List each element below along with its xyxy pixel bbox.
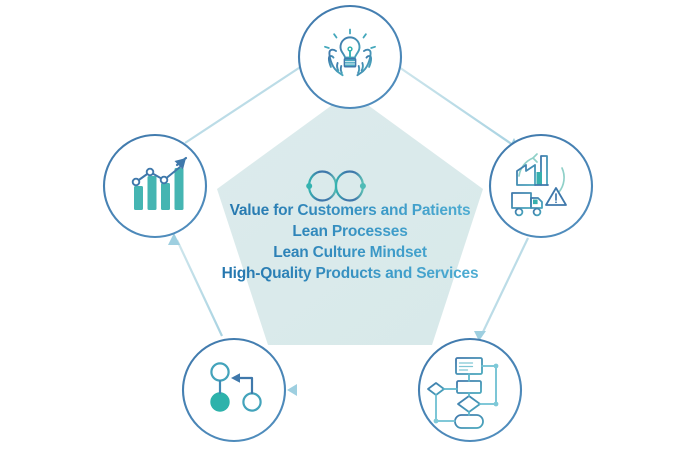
node-performance-growth[interactable] (104, 135, 206, 237)
node-innovation[interactable] (299, 6, 401, 108)
node-continuous-improvement[interactable] (183, 339, 285, 441)
diagram-canvas: Value for Customers and Patients Lean Pr… (0, 0, 700, 450)
node-supply-chain[interactable] (490, 135, 592, 237)
pentagon-shape (217, 92, 483, 345)
pentagon-cycle-diagram (0, 0, 700, 450)
arrow-bottom-right-to-bottom-left (287, 384, 416, 396)
arrow-left-to-top (185, 58, 314, 143)
node-process-flow[interactable] (419, 339, 521, 441)
arrow-top-to-right (393, 63, 520, 150)
arrow-right-to-bottom-right (474, 238, 528, 341)
arrow-bottom-left-to-left (168, 233, 222, 336)
